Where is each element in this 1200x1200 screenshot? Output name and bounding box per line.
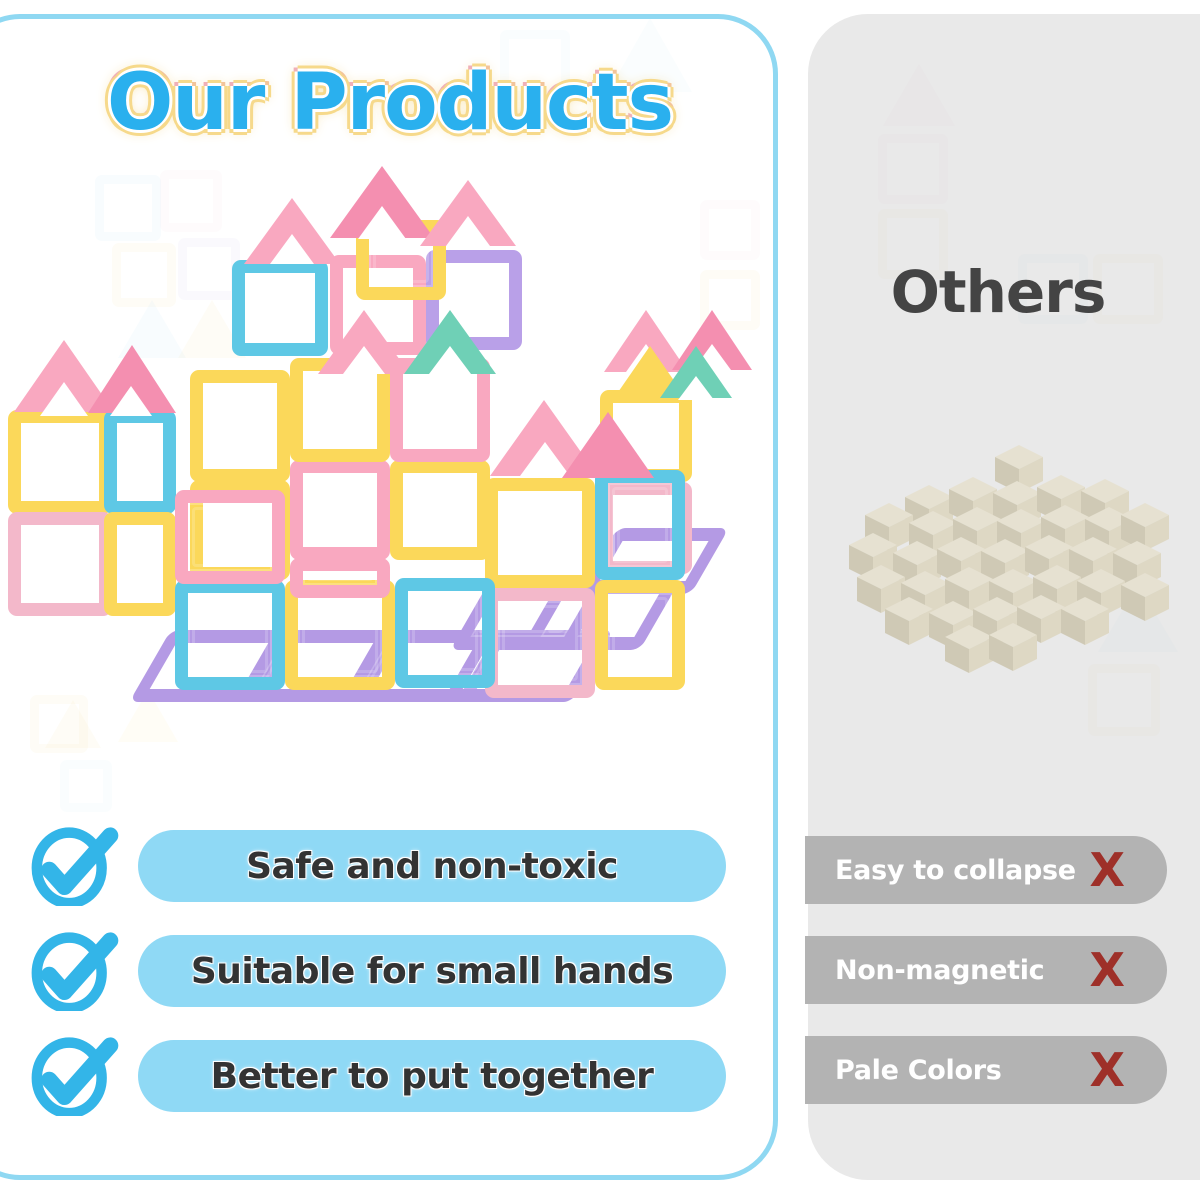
drawback-label: Pale Colors xyxy=(835,1055,1002,1086)
check-circle-icon xyxy=(26,826,122,906)
magnetic-tiles-castle-image xyxy=(0,160,780,780)
wooden-cubes-image xyxy=(845,445,1185,675)
feature-pill[interactable]: Suitable for small hands xyxy=(138,935,726,1007)
feature-label: Safe and non-toxic xyxy=(246,846,618,887)
check-circle-icon xyxy=(26,1036,122,1116)
drawback-row[interactable]: Non-magnetic X xyxy=(805,936,1167,1004)
feature-label: Better to put together xyxy=(211,1056,654,1097)
drawback-label: Non-magnetic xyxy=(835,955,1044,986)
drawback-row[interactable]: Easy to collapse X xyxy=(805,836,1167,904)
drawback-label: Easy to collapse xyxy=(835,855,1076,886)
x-mark-icon: X xyxy=(1090,847,1125,893)
drawback-row[interactable]: Pale Colors X xyxy=(805,1036,1167,1104)
feature-row[interactable]: Safe and non-toxic xyxy=(26,826,726,906)
check-circle-icon xyxy=(26,931,122,1011)
infographic-root: Our Products xyxy=(0,0,1200,1200)
feature-row[interactable]: Suitable for small hands xyxy=(26,931,726,1011)
page-title: Our Products xyxy=(0,58,780,148)
feature-label: Suitable for small hands xyxy=(191,951,673,992)
feature-row[interactable]: Better to put together xyxy=(26,1036,726,1116)
feature-pill[interactable]: Safe and non-toxic xyxy=(138,830,726,902)
x-mark-icon: X xyxy=(1090,1047,1125,1093)
others-title: Others xyxy=(808,258,1188,326)
x-mark-icon: X xyxy=(1090,947,1125,993)
feature-pill[interactable]: Better to put together xyxy=(138,1040,726,1112)
